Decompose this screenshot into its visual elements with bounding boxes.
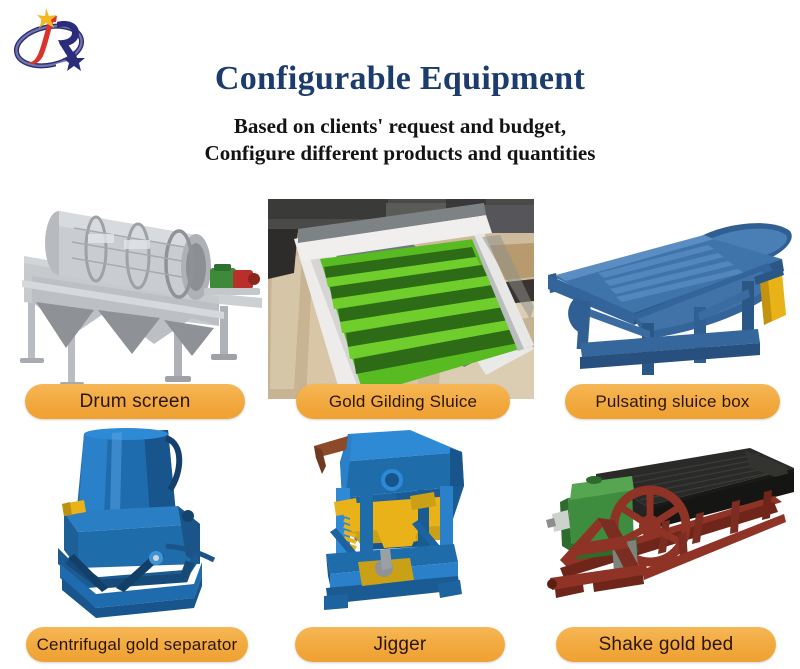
product-label-shake-gold-bed[interactable]: Shake gold bed <box>556 627 776 662</box>
subtitle-line-1: Based on clients' request and budget, <box>0 113 800 140</box>
jigger-photo <box>300 428 505 620</box>
page-subtitle: Based on clients' request and budget, Co… <box>0 113 800 167</box>
gold-gilding-sluice-photo <box>268 199 534 399</box>
product-label-text: Pulsating sluice box <box>595 392 749 412</box>
product-label-text: Gold Gilding Sluice <box>329 392 477 412</box>
centrifugal-gold-separator-photo <box>38 428 228 618</box>
product-label-jigger[interactable]: Jigger <box>295 627 505 662</box>
product-label-text: Centrifugal gold separator <box>37 635 238 655</box>
product-label-centrifugal-gold-separator[interactable]: Centrifugal gold separator <box>26 627 248 662</box>
product-label-text: Shake gold bed <box>599 634 734 656</box>
product-label-gold-gilding-sluice[interactable]: Gold Gilding Sluice <box>296 384 510 419</box>
product-label-text: Drum screen <box>80 391 191 413</box>
product-label-drum-screen[interactable]: Drum screen <box>25 384 245 419</box>
subtitle-line-2: Configure different products and quantit… <box>0 140 800 167</box>
page-title: Configurable Equipment <box>0 58 800 100</box>
shake-gold-bed-photo <box>546 440 796 618</box>
pulsating-sluice-box-photo <box>546 215 796 385</box>
product-label-text: Jigger <box>374 634 427 656</box>
drum-screen-photo <box>14 198 264 390</box>
product-label-pulsating-sluice-box[interactable]: Pulsating sluice box <box>565 384 780 419</box>
